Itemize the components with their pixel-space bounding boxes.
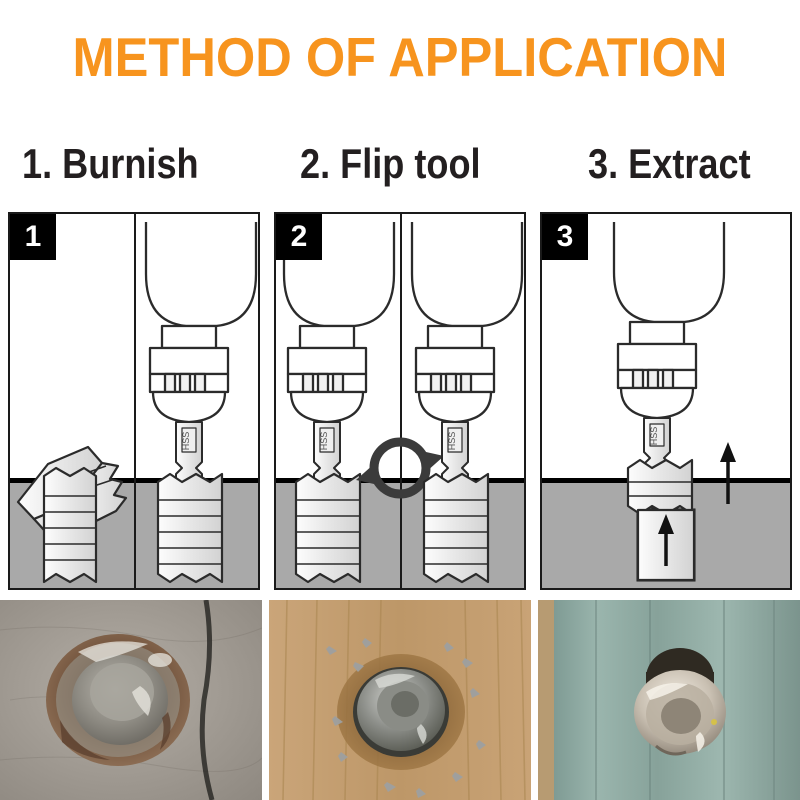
photo-step-2 [269,600,531,800]
photo-gap-2 [531,600,538,800]
bit-label-3: HSS [649,427,659,446]
panel-2-artwork: HSS [276,214,524,588]
stripped-screw-2-left [296,474,360,582]
photo-2-image [269,600,531,800]
diagram-panel-1: HSS 1 [8,212,260,590]
step-headings-row: 1. Burnish 2. Flip tool 3. Extract [0,133,800,195]
page-title: METHOD OF APPLICATION [32,22,768,92]
stripped-screw-right [158,474,222,582]
application-method-infographic: METHOD OF APPLICATION 1. Burnish 2. Flip… [0,0,800,800]
photo-gap-1 [262,600,269,800]
drill-bit-1 [176,422,202,482]
stripped-screw-left [44,468,96,582]
step-3-heading: 3. Extract [588,133,751,195]
bit-label-2-left: HSS [319,432,329,451]
drill-bit-2-right [442,422,468,482]
step-badge-3: 3 [542,214,588,260]
extract-arrow-upper-icon [720,442,736,504]
panel-1-artwork: HSS [10,214,258,588]
drill-icon-3 [614,222,724,418]
photo-row [0,600,800,800]
panel-3-artwork: HSS [542,214,790,588]
stripped-screw-2-right [424,474,488,582]
drill-icon-2-right [412,222,522,422]
diagram-panel-2: HSS [274,212,526,590]
photo-1-image [0,600,262,800]
extracted-screw [628,460,694,580]
step-badge-2: 2 [276,214,322,260]
photo-3-image [538,600,800,800]
step-1-heading: 1. Burnish [22,133,199,195]
flip-rotation-arrow-icon [374,442,426,494]
diagram-panel-3: HSS [540,212,792,590]
bit-label-2-right: HSS [447,432,457,451]
photo-step-1 [0,600,262,800]
diagram-panels-row: HSS 1 [0,212,800,590]
bit-label-1: HSS [181,432,191,451]
photo-step-3 [538,600,800,800]
drill-icon-1 [146,222,256,422]
drill-bit-2-left [314,422,340,482]
step-2-heading: 2. Flip tool [300,133,481,195]
step-badge-1: 1 [10,214,56,260]
